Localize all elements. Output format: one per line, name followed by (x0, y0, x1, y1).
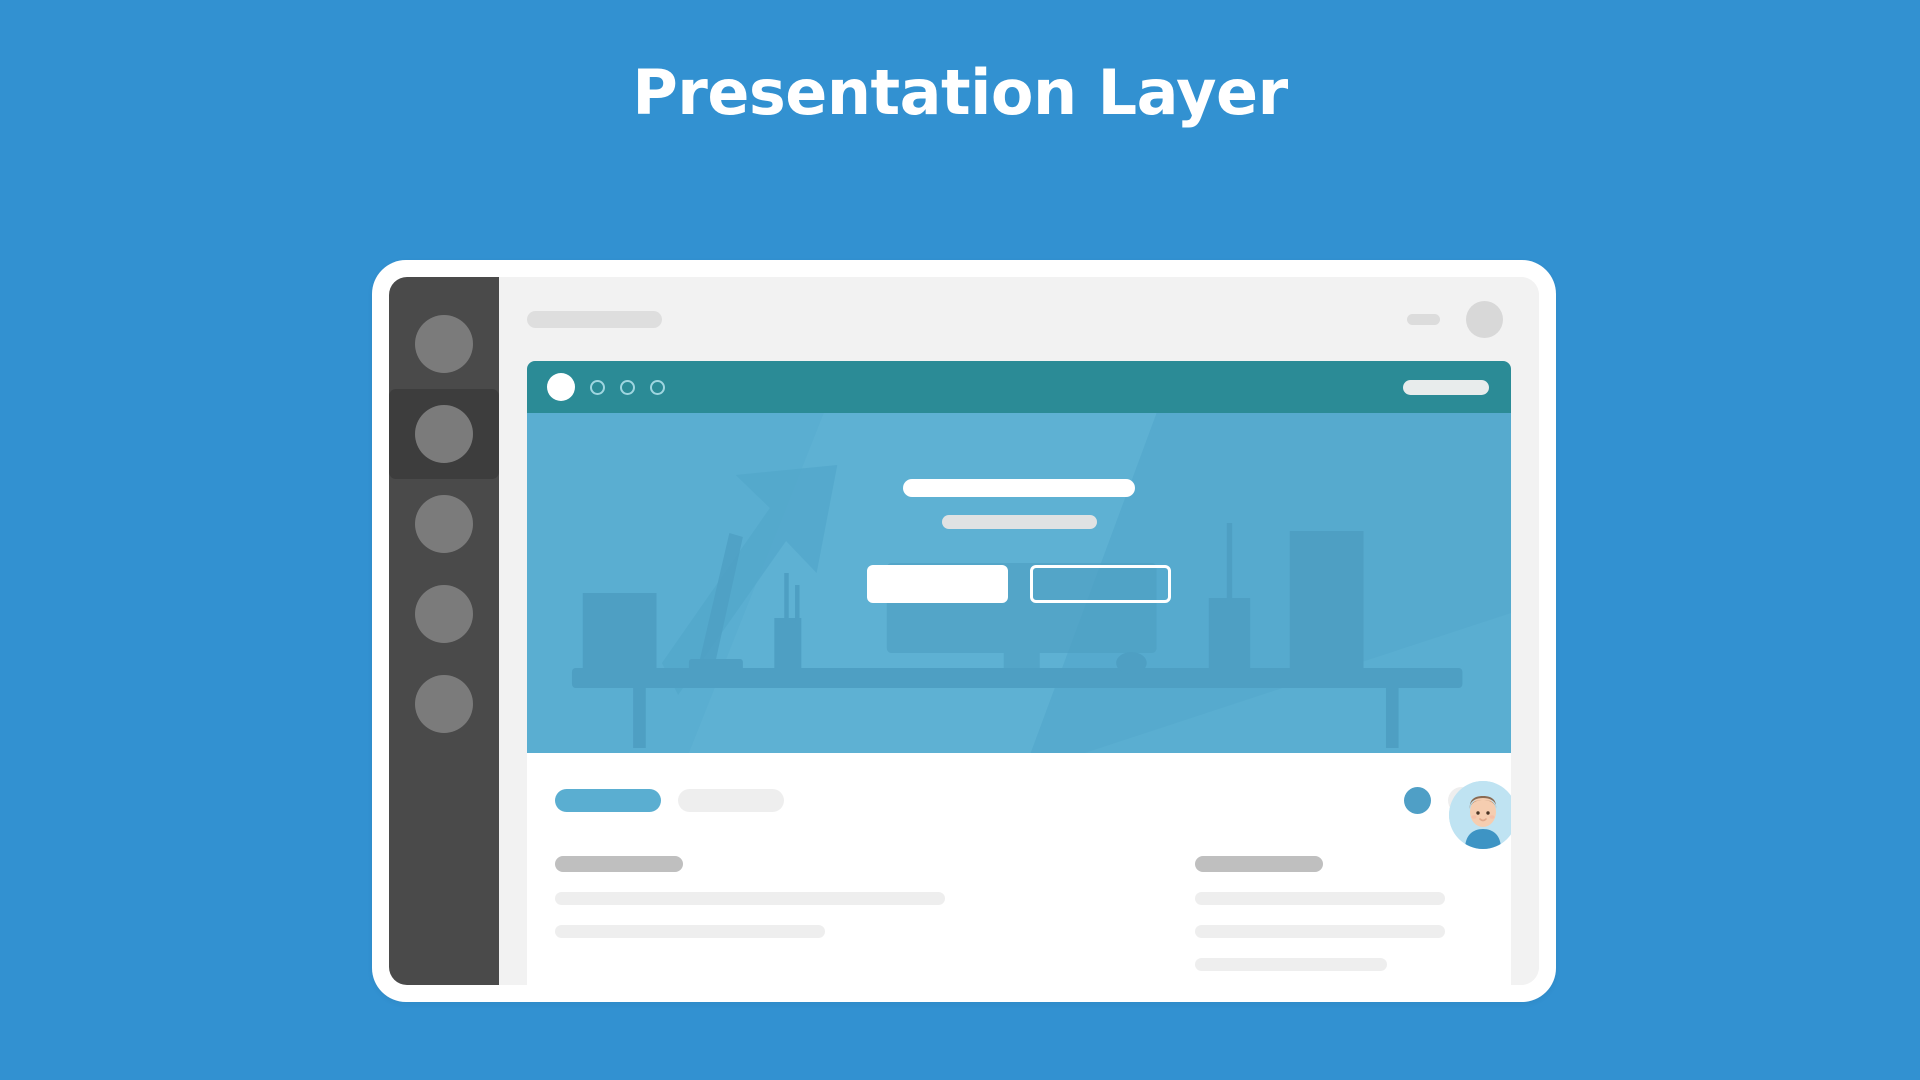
content-toolbar (555, 787, 1475, 814)
column-text-line (555, 925, 825, 938)
sidebar-item-4[interactable] (389, 569, 499, 659)
app-title-placeholder (527, 311, 662, 328)
sidebar-item-5[interactable] (389, 659, 499, 749)
app-titlebar (499, 277, 1539, 361)
content-tab-1[interactable] (555, 789, 661, 812)
column-text-line (555, 892, 945, 905)
hero-content (784, 479, 1254, 603)
column-heading-placeholder (1195, 856, 1323, 872)
tablet-device (372, 260, 1556, 1002)
column-text-line (1195, 892, 1445, 905)
column-text-line (1195, 925, 1445, 938)
window-controls (1407, 301, 1503, 338)
browser-window (527, 361, 1511, 985)
content-column-left (555, 856, 1039, 971)
app-window (499, 277, 1539, 985)
hero-secondary-button[interactable] (1030, 565, 1171, 603)
sidebar-dot-icon (415, 315, 473, 373)
hero-headline-placeholder (903, 479, 1135, 497)
sidebar-dot-icon (415, 495, 473, 553)
browser-chrome (527, 361, 1511, 413)
column-text-line (1195, 958, 1387, 971)
sidebar-item-1[interactable] (389, 299, 499, 389)
sidebar-dot-icon (415, 585, 473, 643)
page-title: Presentation Layer (0, 62, 1920, 124)
sidebar-dot-icon (415, 675, 473, 733)
sidebar-dot-icon (415, 405, 473, 463)
hero-subtitle-placeholder (942, 515, 1097, 529)
hero-primary-button[interactable] (867, 565, 1008, 603)
column-heading-placeholder (555, 856, 683, 872)
content-tab-2[interactable] (678, 789, 784, 812)
content-column-right (1195, 856, 1475, 971)
tablet-screen (389, 277, 1539, 985)
browser-tab-dots (547, 373, 665, 401)
pager-dot-1[interactable] (1404, 787, 1431, 814)
hero-section (527, 413, 1511, 753)
inactive-tab-dot-icon[interactable] (590, 380, 605, 395)
inactive-tab-dot-icon[interactable] (650, 380, 665, 395)
content-section (527, 753, 1511, 985)
window-circle-icon[interactable] (1466, 301, 1503, 338)
content-columns (555, 856, 1475, 971)
sidebar-item-3[interactable] (389, 479, 499, 569)
user-avatar[interactable] (1449, 781, 1511, 849)
minimize-icon[interactable] (1407, 314, 1440, 325)
app-sidebar (389, 277, 499, 985)
browser-address-bar[interactable] (1403, 380, 1489, 395)
avatar-person-icon (1449, 781, 1511, 849)
inactive-tab-dot-icon[interactable] (620, 380, 635, 395)
content-tabs (555, 789, 784, 812)
sidebar-item-2[interactable] (389, 389, 499, 479)
hero-actions (867, 565, 1171, 603)
active-tab-dot-icon[interactable] (547, 373, 575, 401)
